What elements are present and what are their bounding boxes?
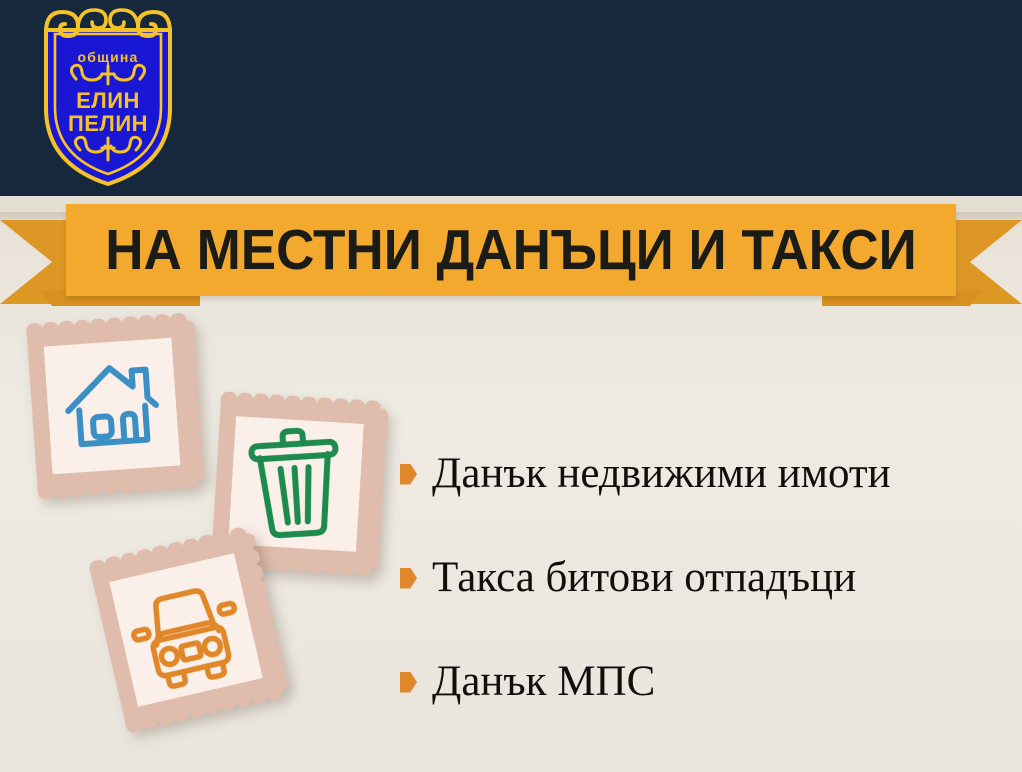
crest-line-main-2: ПЕЛИН — [68, 111, 148, 136]
crest-line-main-1: ЕЛИН — [76, 88, 140, 113]
crest-line-top: община — [77, 49, 138, 65]
bullet-arrow-icon — [400, 464, 417, 485]
stamp-house — [18, 312, 206, 500]
list-item[interactable]: Такса битови отпадъци — [400, 526, 1010, 630]
list-item-label: Такса битови отпадъци — [432, 555, 856, 600]
bullet-arrow-icon — [400, 672, 417, 693]
service-list: Данък недвижими имоти Такса битови отпад… — [400, 422, 1010, 734]
coat-of-arms-icon: община ЕЛИН ПЕЛИН — [28, 4, 188, 190]
list-item-label: Данък МПС — [432, 659, 655, 704]
poster-root: ПРОВЕРКА И ПЛАЩАНЕ НА ЗАДЪЛЖЕНИЯ община … — [0, 0, 1022, 772]
ribbon-label: НА МЕСТНИ ДАНЪЦИ И ТАКСИ — [97, 204, 925, 296]
list-item[interactable]: Данък недвижими имоти — [400, 422, 1010, 526]
bullet-arrow-icon — [400, 568, 417, 589]
list-item-label: Данък недвижими имоти — [432, 451, 891, 496]
stamp-paper — [44, 338, 181, 475]
ribbon-banner: НА МЕСТНИ ДАНЪЦИ И ТАКСИ — [0, 198, 1022, 310]
list-item[interactable]: Данък МПС — [400, 630, 1010, 734]
